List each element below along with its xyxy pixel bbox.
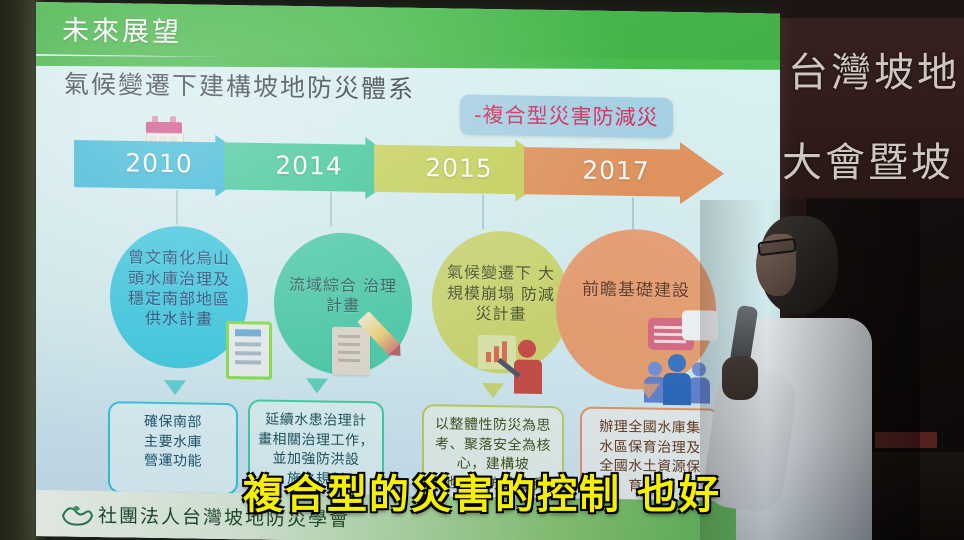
program-line: 頭水庫治理及 [128,268,230,289]
projected-slide: 未來展望 氣候變遷下建構坡地防災體系 -複合型災害防減災 2010 [36,2,780,540]
outcome-line: 水區保育治理及 [589,437,711,459]
chevron-down-icon [638,383,660,398]
program-line: 前瞻基礎建設 [582,280,690,302]
chevron-down-icon [482,383,504,398]
program-line: 穩定南部地區 [128,288,230,309]
timeline-arrows: 2010 2014 2015 2017 [74,133,746,206]
outcome-line: 以整體性防災為思 [431,415,555,437]
outcome-line: 考、聚落安全為核 [431,435,555,457]
timeline-tick [482,195,484,229]
program-line: 供水計畫 [145,309,213,329]
presenter-hand [722,356,758,400]
banner-line-1: 台灣坡地 [788,40,960,98]
checklist-icon [226,321,272,380]
timeline-year-label: 2017 [582,155,650,185]
timeline-arrow-2017: 2017 [524,140,724,205]
chevron-down-icon [306,378,328,393]
program-circle-1-text: 曾文南化烏山 頭水庫治理及 穩定南部地區 供水計畫 [120,247,238,331]
bar-chart-board-icon [478,335,516,370]
program-circle-2-text: 流域綜合 治理計畫 [284,274,402,317]
timeline-year-label: 2015 [425,153,493,183]
outcome-line: 畫相關治理工作， [257,430,375,451]
program-line: 曾文南化烏山 [128,248,230,269]
outcome-line: 延續水患治理計 [257,410,375,431]
slide-subtitle-badge: -複合型災害防減災 [460,95,673,138]
timeline-year-label: 2014 [275,150,343,180]
document-icon [332,327,370,376]
slide-header-title: 未來展望 [62,8,182,49]
outcome-line: 主要水庫 [117,432,229,453]
banner-line-2: 大會暨坡 [782,130,954,188]
timeline-tick [632,197,634,231]
outcome-line: 辦理全國水庫集 [589,418,711,440]
timeline-year-label: 2010 [125,148,193,178]
program-circle-3-text: 氣候變遷下 大規模崩塌 防減災計畫 [442,263,560,326]
program-circle-4-text: 前瞻基礎建設 [582,280,690,303]
video-frame: 台灣坡地 大會暨坡 未來展望 氣候變遷下建構坡地防災體系 -複合型災害防減災 [0,0,964,540]
video-caption: 複合型的災害的控制 也好 [0,462,964,520]
timeline-tick [176,190,178,224]
program-line: 氣候變遷下 [447,263,532,283]
timeline-tick [330,193,332,227]
chevron-down-icon [164,380,186,395]
outcome-line: 確保南部 [117,412,229,433]
program-line: 流域綜合 [289,275,357,295]
slide-main-title: 氣候變遷下建構坡地防災體系 [64,64,415,106]
conference-banner: 台灣坡地 大會暨坡 [778,18,964,198]
